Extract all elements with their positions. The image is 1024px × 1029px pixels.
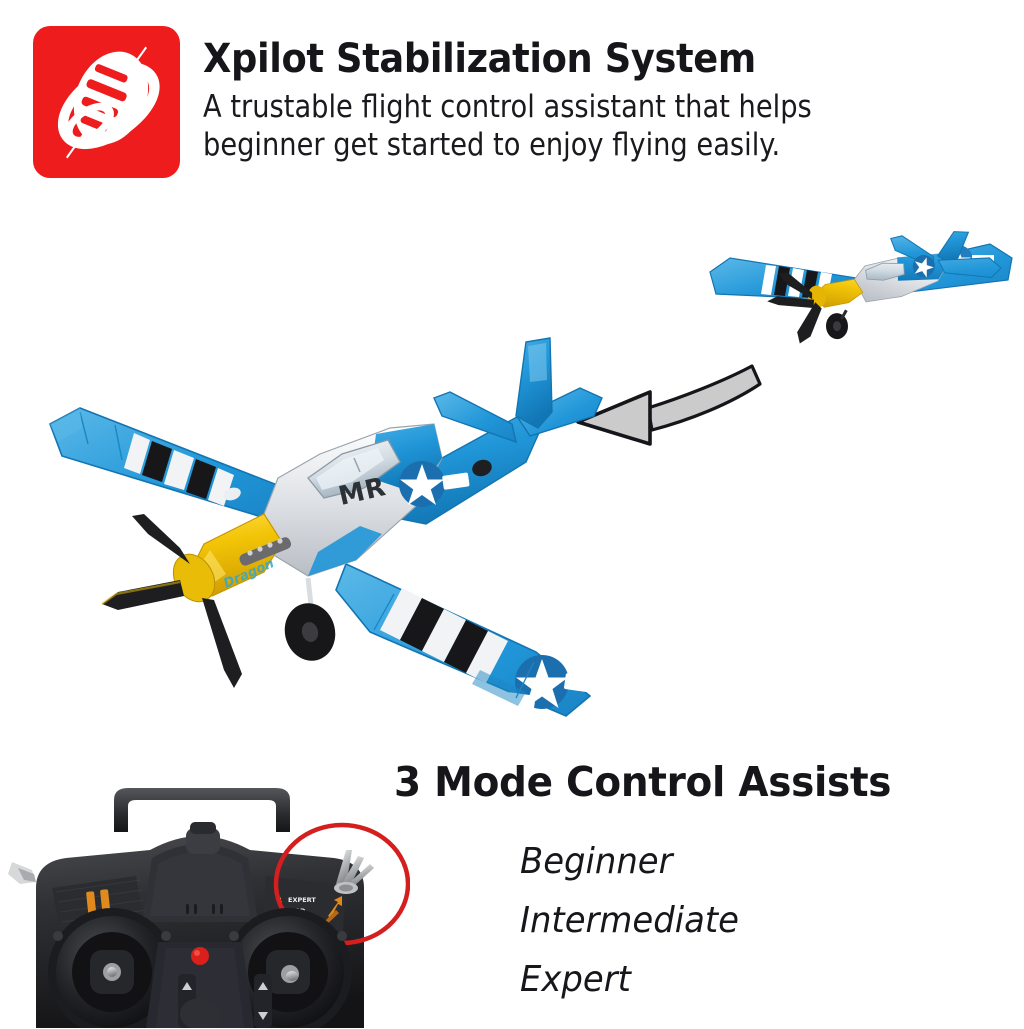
mode-item-expert: Expert	[520, 950, 915, 1009]
header-section: Xpilot Stabilization System A trustable …	[0, 0, 1024, 195]
rc-transmitter-controller: 1 EXPERT 2 MOD 3 BEGINNER	[0, 776, 410, 1028]
mode-toggle-switches	[334, 850, 374, 894]
modes-heading: 3 Mode Control Assists	[394, 758, 891, 806]
svg-text:MR: MR	[336, 472, 389, 512]
curved-motion-arrow	[578, 366, 760, 444]
modes-list: Beginner Intermediate Expert	[520, 832, 940, 1009]
mode-item-beginner: Beginner	[520, 832, 915, 891]
trim-button-right	[254, 974, 272, 1028]
antenna-stub-left	[8, 862, 36, 884]
rc-airplane-p51-mustang-large: MR Dragon	[50, 338, 602, 716]
svg-text:Dragon: Dragon	[222, 556, 277, 591]
power-led	[191, 947, 209, 965]
page-subtitle: A trustable flight control assistant tha…	[203, 88, 933, 164]
header-text-group: Xpilot Stabilization System A trustable …	[203, 36, 993, 164]
mode-item-intermediate: Intermediate	[520, 891, 915, 950]
page-title: Xpilot Stabilization System	[203, 36, 930, 82]
xpilot-gyro-logo-icon	[33, 26, 180, 178]
svg-text:EXPERT: EXPERT	[288, 896, 316, 904]
